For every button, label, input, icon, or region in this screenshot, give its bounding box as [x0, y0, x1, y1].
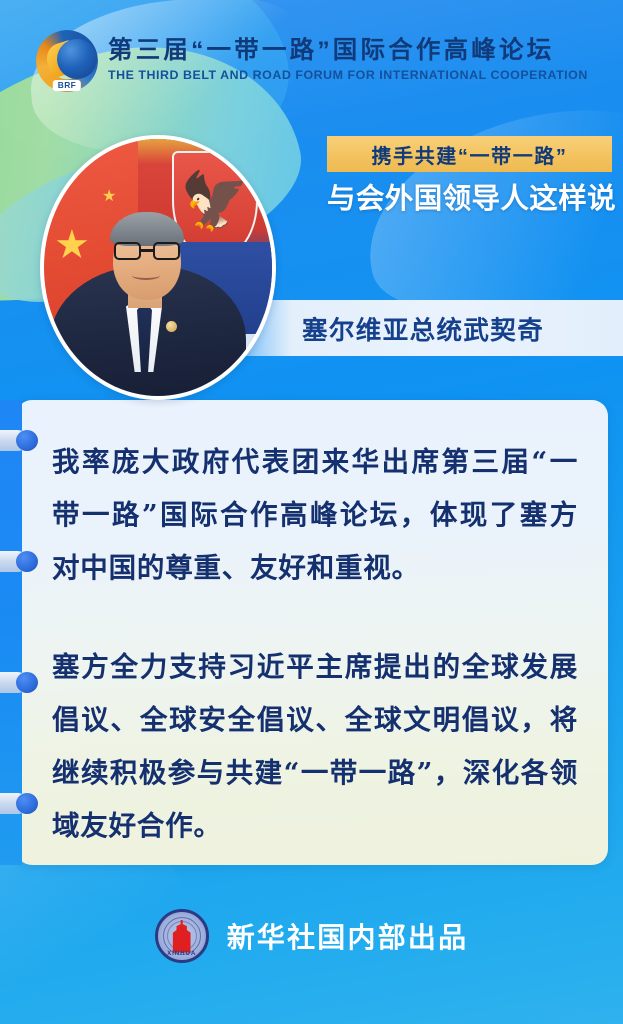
portrait-caption-strip: 塞尔维亚总统武契奇	[246, 300, 623, 356]
glasses-icon	[112, 242, 182, 260]
binder-tab	[0, 793, 38, 814]
xinhua-logo-text: XINHUA	[158, 950, 206, 957]
binder-tab	[0, 430, 38, 451]
gold-subtitle-banner: 携手共建“一带一路”	[327, 136, 612, 172]
portrait-photo: ★ ★ ★ 🦅	[40, 135, 276, 400]
quote-paragraph: 我率庞大政府代表团来华出席第三届“一带一路”国际合作高峰论坛，体现了塞方对中国的…	[52, 436, 578, 595]
header: BRF 第三届“一带一路”国际合作高峰论坛 THE THIRD BELT AND…	[0, 0, 623, 120]
binder-tab-knob	[16, 793, 38, 814]
headline-text: 与会外国领导人这样说	[327, 176, 617, 218]
binder-tab-knob	[16, 551, 38, 572]
binder-tab	[0, 672, 38, 693]
quote-card: 我率庞大政府代表团来华出席第三届“一带一路”国际合作高峰论坛，体现了塞方对中国的…	[16, 400, 608, 865]
mouth-shape	[132, 271, 160, 280]
binder-tab	[0, 551, 38, 572]
lapel-pin-icon	[166, 321, 177, 332]
portrait-caption-text: 塞尔维亚总统武契奇	[302, 310, 544, 347]
hair-shape	[110, 212, 184, 246]
footer-label: 新华社国内部出品	[227, 916, 469, 956]
quote-paragraph: 塞方全力支持习近平主席提出的全球发展倡议、全球安全倡议、全球文明倡议，将继续积极…	[52, 641, 578, 853]
brf-badge-label: BRF	[53, 80, 81, 91]
xinhua-logo-icon: XINHUA	[155, 909, 209, 963]
brf-sphere-shape	[57, 39, 97, 79]
leader-figure	[50, 186, 246, 396]
header-titles: 第三届“一带一路”国际合作高峰论坛 THE THIRD BELT AND ROA…	[108, 38, 588, 82]
portrait-photo-inner: ★ ★ ★ 🦅	[44, 139, 272, 396]
footer: XINHUA 新华社国内部出品	[0, 865, 623, 1024]
binder-tab-knob	[16, 430, 38, 451]
brf-logo-icon: BRF	[36, 30, 98, 92]
forum-title-cn: 第三届“一带一路”国际合作高峰论坛	[108, 38, 588, 64]
gold-subtitle-text: 携手共建“一带一路”	[372, 140, 568, 169]
forum-title-en: THE THIRD BELT AND ROAD FORUM FOR INTERN…	[108, 68, 588, 82]
glasses-lens-right	[153, 242, 180, 260]
poster-root: BRF 第三届“一带一路”国际合作高峰论坛 THE THIRD BELT AND…	[0, 0, 623, 1024]
binder-tab-knob	[16, 672, 38, 693]
glasses-bridge	[141, 249, 153, 252]
glasses-lens-left	[114, 242, 141, 260]
